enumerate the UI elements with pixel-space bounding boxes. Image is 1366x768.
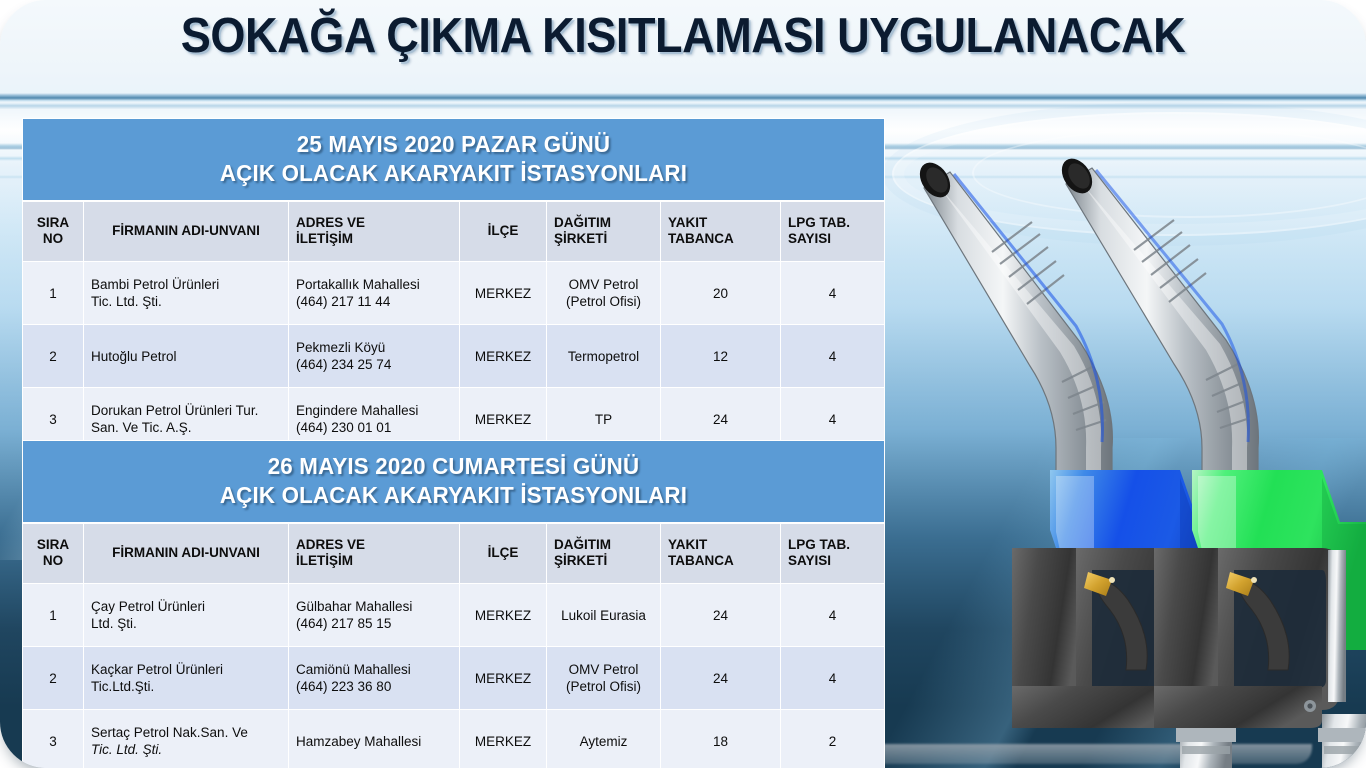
col-header-nozzle-count: YAKIT TABANCA: [661, 202, 780, 261]
cell-company: Aytemiz: [547, 710, 660, 768]
cell-nozzle-count: 20: [661, 262, 780, 324]
cell-line-2: Ltd. Şti.: [91, 615, 281, 632]
blue-fuel-nozzle: [914, 157, 1236, 768]
cell-company: Termopetrol: [547, 325, 660, 387]
cell-firm: Hutoğlu Petrol: [84, 325, 288, 387]
col-header-district: İLÇE: [460, 524, 546, 583]
cell-sira-no: 2: [23, 647, 83, 709]
col-header-nozzle-count: YAKIT TABANCA: [661, 524, 780, 583]
cell-line-1: Sertaç Petrol Nak.San. Ve: [91, 724, 281, 741]
col-header-nozzle-line1: YAKIT: [668, 215, 773, 231]
cell-line-1: Hutoğlu Petrol: [91, 348, 281, 365]
col-header-lpg-line1: LPG TAB.: [788, 537, 877, 553]
slide-canvas: SOKAĞA ÇIKMA KISITLAMASI UYGULANACAK 25 …: [0, 0, 1366, 768]
cell-line-1: TP: [554, 411, 653, 428]
cell-line-2: Tic. Ltd. Şti.: [91, 741, 281, 758]
table-2-body: 1Çay Petrol ÜrünleriLtd. Şti.Gülbahar Ma…: [23, 584, 884, 768]
table-row: 1Bambi Petrol ÜrünleriTic. Ltd. Şti.Port…: [23, 262, 884, 324]
cell-lpg-count: 4: [781, 584, 884, 646]
cell-line-1: Portakallık Mahallesi: [296, 276, 452, 293]
cell-address: Portakallık Mahallesi(464) 217 11 44: [289, 262, 459, 324]
cell-line-1: Lukoil Eurasia: [554, 607, 653, 624]
cell-line-1: Pekmezli Köyü: [296, 339, 452, 356]
cell-line-1: Termopetrol: [554, 348, 653, 365]
table-2-grid: SIRA NO FİRMANIN ADI-UNVANI ADRES VE İLE…: [22, 523, 885, 768]
cell-line-1: Camiönü Mahallesi: [296, 661, 452, 678]
cell-line-1: Aytemiz: [554, 733, 653, 750]
col-header-lpg-count: LPG TAB. SAYISI: [781, 202, 884, 261]
cell-nozzle-count: 24: [661, 584, 780, 646]
water-ripple-ellipse-outer: [892, 112, 1366, 236]
cell-firm: Çay Petrol ÜrünleriLtd. Şti.: [84, 584, 288, 646]
col-header-lpg-line1: LPG TAB.: [788, 215, 877, 231]
col-header-sira-no: SIRA NO: [23, 524, 83, 583]
cell-sira-no: 2: [23, 325, 83, 387]
cell-sira-no: 1: [23, 262, 83, 324]
page-title: SOKAĞA ÇIKMA KISITLAMASI UYGULANACAK: [55, 8, 1312, 64]
cell-sira-no: 3: [23, 710, 83, 768]
cell-lpg-count: 4: [781, 647, 884, 709]
col-header-address: ADRES VE İLETİŞİM: [289, 524, 459, 583]
cell-lpg-count: 2: [781, 710, 884, 768]
col-header-address-line1: ADRES VE: [296, 537, 452, 553]
col-header-sira-no-line2: NO: [30, 553, 76, 569]
cell-nozzle-count: 12: [661, 325, 780, 387]
cell-line-2: San. Ve Tic. A.Ş.: [91, 419, 281, 436]
table-1-title-line1: 25 MAYIS 2020 PAZAR GÜNÜ: [42, 130, 866, 159]
cell-line-1: Çay Petrol Ürünleri: [91, 598, 281, 615]
cell-line-1: Hamzabey Mahallesi: [296, 733, 452, 750]
cell-address: Pekmezli Köyü(464) 234 25 74: [289, 325, 459, 387]
col-header-lpg-line2: SAYISI: [788, 553, 877, 569]
cell-line-1: OMV Petrol: [554, 661, 653, 678]
col-header-address-line2: İLETİŞİM: [296, 553, 452, 569]
schedule-table-saturday: 26 MAYIS 2020 CUMARTESİ GÜNÜ AÇIK OLACAK…: [22, 440, 885, 768]
col-header-sira-no-line1: SIRA: [30, 537, 76, 553]
cell-district: MERKEZ: [460, 710, 546, 768]
col-header-nozzle-line2: TABANCA: [668, 553, 773, 569]
col-header-company-line1: DAĞITIM: [554, 537, 653, 553]
table-row: 2Hutoğlu PetrolPekmezli Köyü(464) 234 25…: [23, 325, 884, 387]
col-header-lpg-count: LPG TAB. SAYISI: [781, 524, 884, 583]
cell-address: Gülbahar Mahallesi(464) 217 85 15: [289, 584, 459, 646]
cell-address: Camiönü Mahallesi(464) 223 36 80: [289, 647, 459, 709]
cell-nozzle-count: 24: [661, 647, 780, 709]
col-header-firm: FİRMANIN ADI-UNVANI: [84, 524, 288, 583]
cell-sira-no: 1: [23, 584, 83, 646]
col-header-nozzle-line2: TABANCA: [668, 231, 773, 247]
cell-district: MERKEZ: [460, 584, 546, 646]
green-fuel-nozzle: ELAFLEX: [1056, 153, 1366, 768]
cell-line-1: OMV Petrol: [554, 276, 653, 293]
cell-line-2: (464) 234 25 74: [296, 356, 452, 373]
water-ripple-ellipse-inner: [972, 128, 1366, 218]
cell-lpg-count: 4: [781, 325, 884, 387]
cell-company: OMV Petrol(Petrol Ofisi): [547, 647, 660, 709]
table-2-title: 26 MAYIS 2020 CUMARTESİ GÜNÜ AÇIK OLACAK…: [22, 440, 885, 523]
cell-district: MERKEZ: [460, 262, 546, 324]
table-row: 2Kaçkar Petrol ÜrünleriTic.Ltd.Şti.Camiö…: [23, 647, 884, 709]
cell-address: Hamzabey Mahallesi: [289, 710, 459, 768]
col-header-company: DAĞITIM ŞİRKETİ: [547, 524, 660, 583]
fuel-nozzles-illustration: ELAFLEX: [880, 130, 1366, 768]
col-header-lpg-line2: SAYISI: [788, 231, 877, 247]
cell-line-2: (464) 217 11 44: [296, 293, 452, 310]
col-header-sira-no-line2: NO: [30, 231, 76, 247]
cell-company: Lukoil Eurasia: [547, 584, 660, 646]
cell-line-2: (Petrol Ofisi): [554, 293, 653, 310]
cell-line-1: Dorukan Petrol Ürünleri Tur.: [91, 402, 281, 419]
cell-line-1: Engindere Mahallesi: [296, 402, 452, 419]
col-header-sira-no: SIRA NO: [23, 202, 83, 261]
col-header-company-line1: DAĞITIM: [554, 215, 653, 231]
col-header-company: DAĞITIM ŞİRKETİ: [547, 202, 660, 261]
cell-line-2: Tic. Ltd. Şti.: [91, 293, 281, 310]
cell-line-1: Kaçkar Petrol Ürünleri: [91, 661, 281, 678]
cell-district: MERKEZ: [460, 647, 546, 709]
cell-line-2: (464) 217 85 15: [296, 615, 452, 632]
water-ripple-band-1: [0, 93, 1366, 102]
col-header-firm: FİRMANIN ADI-UNVANI: [84, 202, 288, 261]
cell-line-2: (464) 230 01 01: [296, 419, 452, 436]
col-header-nozzle-line1: YAKIT: [668, 537, 773, 553]
table-1-title-line2: AÇIK OLACAK AKARYAKIT İSTASYONLARI: [42, 159, 866, 188]
col-header-address-line2: İLETİŞİM: [296, 231, 452, 247]
cell-line-2: (464) 223 36 80: [296, 678, 452, 695]
table-2-title-line1: 26 MAYIS 2020 CUMARTESİ GÜNÜ: [42, 452, 866, 481]
cell-line-1: Bambi Petrol Ürünleri: [91, 276, 281, 293]
cell-line-2: Tic.Ltd.Şti.: [91, 678, 281, 695]
cell-company: OMV Petrol(Petrol Ofisi): [547, 262, 660, 324]
cell-lpg-count: 4: [781, 262, 884, 324]
col-header-company-line2: ŞİRKETİ: [554, 553, 653, 569]
cell-firm: Sertaç Petrol Nak.San. VeTic. Ltd. Şti.: [84, 710, 288, 768]
svg-text:ELAFLEX: ELAFLEX: [1329, 600, 1343, 653]
table-1-header-row: SIRA NO FİRMANIN ADI-UNVANI ADRES VE İLE…: [23, 202, 884, 261]
cell-line-2: (Petrol Ofisi): [554, 678, 653, 695]
table-2-title-line2: AÇIK OLACAK AKARYAKIT İSTASYONLARI: [42, 481, 866, 510]
table-2-header-row: SIRA NO FİRMANIN ADI-UNVANI ADRES VE İLE…: [23, 524, 884, 583]
table-row: 3Sertaç Petrol Nak.San. VeTic. Ltd. Şti.…: [23, 710, 884, 768]
col-header-address-line1: ADRES VE: [296, 215, 452, 231]
cell-nozzle-count: 18: [661, 710, 780, 768]
water-ripple-band-2: [0, 103, 1366, 110]
col-header-address: ADRES VE İLETİŞİM: [289, 202, 459, 261]
cell-district: MERKEZ: [460, 325, 546, 387]
cell-firm: Kaçkar Petrol ÜrünleriTic.Ltd.Şti.: [84, 647, 288, 709]
col-header-sira-no-line1: SIRA: [30, 215, 76, 231]
table-row: 1Çay Petrol ÜrünleriLtd. Şti.Gülbahar Ma…: [23, 584, 884, 646]
table-1-title: 25 MAYIS 2020 PAZAR GÜNÜ AÇIK OLACAK AKA…: [22, 118, 885, 201]
cell-line-1: Gülbahar Mahallesi: [296, 598, 452, 615]
col-header-company-line2: ŞİRKETİ: [554, 231, 653, 247]
cell-firm: Bambi Petrol ÜrünleriTic. Ltd. Şti.: [84, 262, 288, 324]
col-header-district: İLÇE: [460, 202, 546, 261]
